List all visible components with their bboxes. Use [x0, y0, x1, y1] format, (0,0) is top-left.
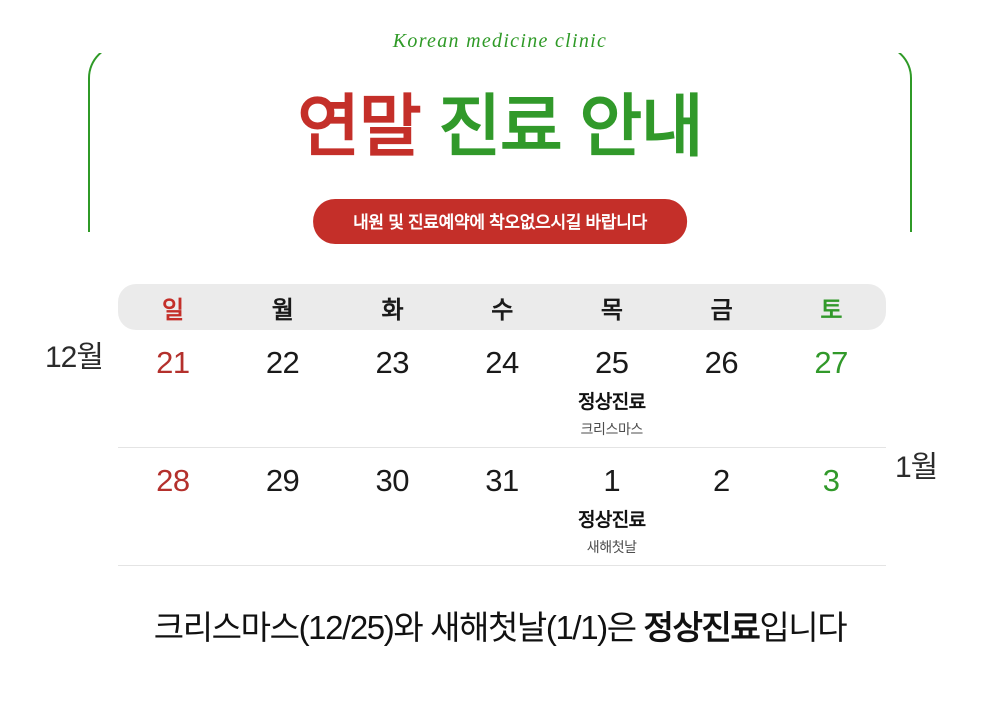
- calendar: 일월화수목금토 2122232425정상진료크리스마스2627282930311…: [118, 284, 886, 566]
- calendar-day-cell: 26: [667, 344, 777, 447]
- calendar-day-holiday-name: 크리스마스: [557, 419, 667, 439]
- calendar-day-number: 28: [118, 462, 228, 501]
- month-label-end: 1월: [895, 453, 937, 483]
- calendar-day-cell: 25정상진료크리스마스: [557, 344, 667, 447]
- footer-note: 크리스마스(12/25)와 새해첫날(1/1)은 정상진료입니다: [0, 601, 1000, 649]
- calendar-day-number: 31: [447, 462, 557, 501]
- calendar-weekday-수: 수: [447, 290, 557, 325]
- calendar-day-cell: 27: [776, 344, 886, 447]
- calendar-day-number: 21: [118, 344, 228, 383]
- calendar-weekday-목: 목: [557, 290, 667, 325]
- notice-banner: 내원 및 진료예약에 착오없으시길 바랍니다: [313, 199, 687, 244]
- calendar-weekday-일: 일: [118, 290, 228, 325]
- page-title: 연말 진료 안내: [0, 88, 1000, 166]
- month-label-start: 12월: [45, 343, 103, 373]
- calendar-weekday-월: 월: [228, 290, 338, 325]
- calendar-weekday-토: 토: [776, 290, 886, 325]
- brand-header: Korean medicine clinic: [0, 30, 1000, 53]
- calendar-week-row: 282930311정상진료새해첫날23: [118, 448, 886, 566]
- calendar-day-holiday-name: 새해첫날: [557, 537, 667, 557]
- calendar-day-number: 1: [557, 462, 667, 501]
- footer-strong: 정상진료: [643, 609, 759, 646]
- calendar-day-number: 3: [776, 462, 886, 501]
- footer-lead: 크리스마스(12/25)와 새해첫날(1/1)은: [154, 609, 644, 646]
- calendar-day-cell: 21: [118, 344, 228, 447]
- calendar-day-number: 27: [776, 344, 886, 383]
- calendar-week-row: 2122232425정상진료크리스마스2627: [118, 330, 886, 448]
- calendar-day-status: 정상진료: [557, 387, 667, 414]
- calendar-day-cell: 23: [337, 344, 447, 447]
- calendar-day-number: 24: [447, 344, 557, 383]
- page-title-green: 진료 안내: [438, 89, 702, 165]
- calendar-day-number: 23: [337, 344, 447, 383]
- calendar-day-number: 22: [228, 344, 338, 383]
- calendar-day-number: 30: [337, 462, 447, 501]
- decorative-frame: [88, 44, 912, 304]
- calendar-day-cell: 31: [447, 462, 557, 565]
- calendar-day-cell: 2: [667, 462, 777, 565]
- calendar-day-cell: 29: [228, 462, 338, 565]
- calendar-day-status: 정상진료: [557, 505, 667, 532]
- calendar-day-cell: 3: [776, 462, 886, 565]
- calendar-day-number: 26: [667, 344, 777, 383]
- calendar-day-cell: 22: [228, 344, 338, 447]
- poster-root: Korean medicine clinic 연말 진료 안내 내원 및 진료예…: [0, 0, 1000, 707]
- calendar-day-cell: 24: [447, 344, 557, 447]
- calendar-weekday-화: 화: [337, 290, 447, 325]
- calendar-day-cell: 1정상진료새해첫날: [557, 462, 667, 565]
- calendar-day-cell: 28: [118, 462, 228, 565]
- calendar-day-number: 25: [557, 344, 667, 383]
- calendar-weekday-header: 일월화수목금토: [118, 284, 886, 330]
- brand-text: Korean medicine clinic: [377, 30, 623, 52]
- calendar-day-number: 29: [228, 462, 338, 501]
- footer-tail: 입니다: [759, 609, 846, 646]
- calendar-weeks: 2122232425정상진료크리스마스2627282930311정상진료새해첫날…: [118, 330, 886, 566]
- calendar-day-cell: 30: [337, 462, 447, 565]
- calendar-day-number: 2: [667, 462, 777, 501]
- calendar-weekday-금: 금: [667, 290, 777, 325]
- page-title-red: 연말: [297, 89, 420, 165]
